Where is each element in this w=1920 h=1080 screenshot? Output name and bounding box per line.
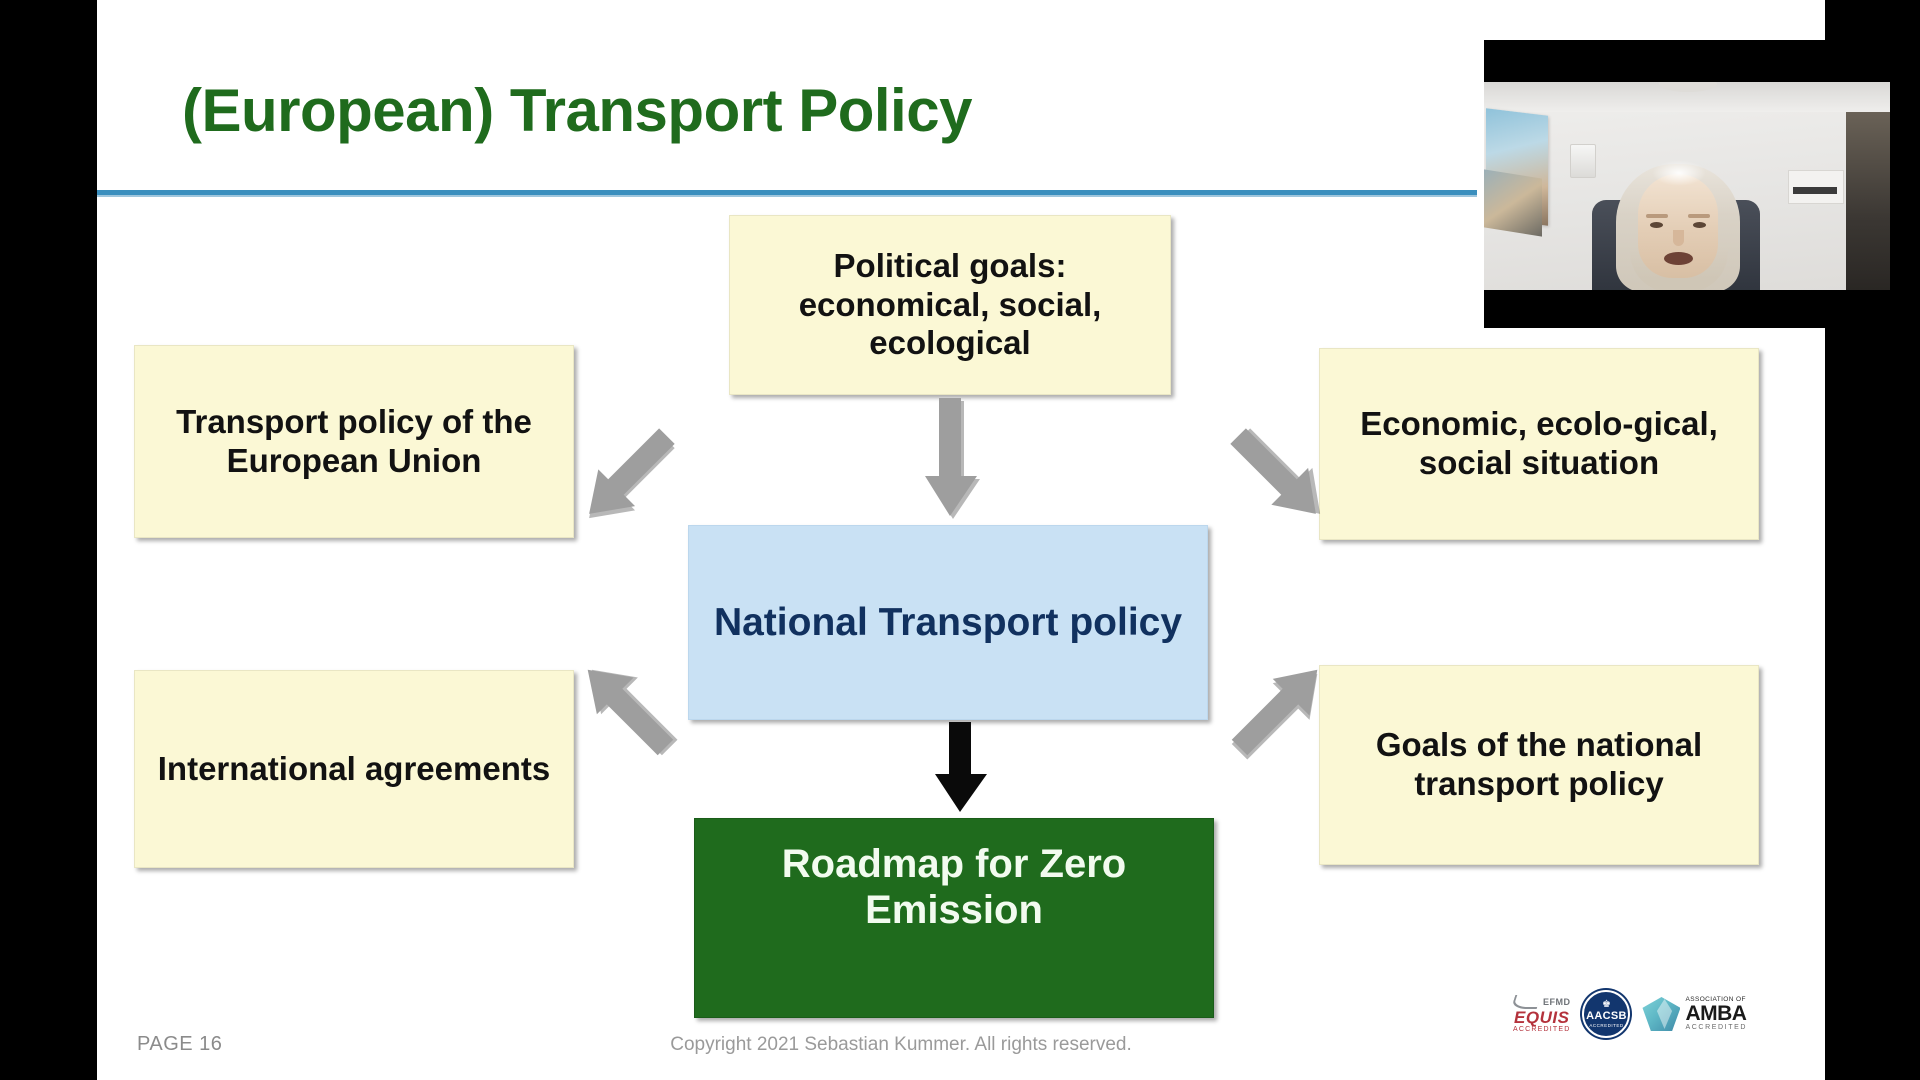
amba-label: AMBA [1685,1004,1747,1024]
eye-right [1693,222,1706,228]
presenter-video-overlay[interactable] [1484,40,1890,328]
eyebrow-left [1646,214,1668,218]
diagram-box-goals-national-policy[interactable]: Goals of the national transport policy [1319,665,1759,865]
equis-accredited-label: ACCREDITED [1513,1026,1571,1033]
box-label: National Transport policy [689,600,1207,646]
aacsb-accredited-label: ACCREDITED [1589,1023,1623,1028]
box-label: Roadmap for Zero Emission [695,841,1213,934]
page-title: (European) Transport Policy [182,76,1482,145]
efmd-swoosh-icon [1511,995,1542,1009]
diagram-box-international-agreements[interactable]: International agreements [134,670,574,868]
box-label: International agreements [135,750,573,789]
diagram-box-transport-policy-eu[interactable]: Transport policy of the European Union [134,345,574,538]
diagram-box-roadmap-zero-emission[interactable]: Roadmap for Zero Emission [694,818,1214,1018]
presenter-video-frame [1484,82,1890,290]
nose [1673,230,1684,246]
eyebrow-right [1688,214,1710,218]
presenter-face [1638,174,1718,278]
room-dark-area [1846,112,1890,290]
wall-picture-lower [1484,169,1542,236]
air-vent [1570,144,1596,178]
mouth [1664,252,1693,265]
aacsb-logo: ♚ AACSB ACCREDITED [1582,990,1630,1038]
amba-logo: ASSOCIATION OF AMBA ACCREDITED [1642,997,1747,1031]
title-divider [97,190,1477,195]
arrow-eu-policy-to-center-icon [573,425,713,550]
efmd-label: EFMD [1543,998,1571,1007]
equis-logo: EFMD EQUIS ACCREDITED [1513,995,1571,1033]
accreditation-logos: EFMD EQUIS ACCREDITED ♚ AACSB ACCREDITED… [1513,990,1747,1038]
box-label: Transport policy of the European Union [135,403,573,480]
wall-shelf [1788,170,1844,204]
arrow-political-to-center-icon [925,398,985,528]
arrow-goals-to-center-icon [1192,640,1332,765]
diagram-box-economic-situation[interactable]: Economic, ecolo-gical, social situation [1319,348,1759,540]
equis-label: EQUIS [1514,1009,1569,1026]
crown-icon: ♚ [1602,1000,1611,1010]
arrow-econ-to-center-icon [1192,425,1332,550]
diagram-box-political-goals[interactable]: Political goals: economical, social, eco… [729,215,1171,395]
diagram-box-national-transport-policy[interactable]: National Transport policy [688,525,1208,720]
box-label: Political goals: economical, social, eco… [730,247,1170,363]
amba-diamond-icon [1642,997,1680,1031]
arrow-center-to-roadmap-icon [935,722,995,820]
box-label: Economic, ecolo-gical, social situation [1320,405,1758,482]
amba-accredited-label: ACCREDITED [1685,1024,1747,1031]
copyright-text: Copyright 2021 Sebastian Kummer. All rig… [670,1034,1132,1055]
box-label: Goals of the national transport policy [1320,726,1758,803]
arrow-intl-to-center-icon [573,640,713,765]
eye-left [1650,222,1663,228]
aacsb-label: AACSB [1586,1010,1627,1022]
forehead-highlight [1652,160,1706,186]
screen: (European) Transport Policy Transport po… [0,0,1920,1080]
